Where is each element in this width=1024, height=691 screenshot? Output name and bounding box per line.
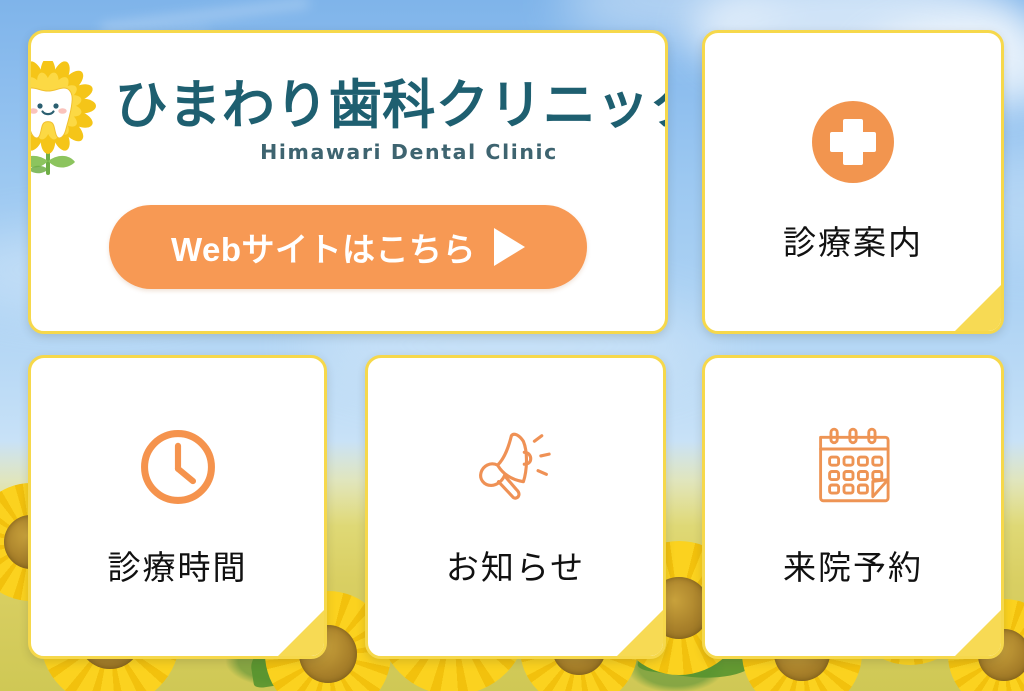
tile-news-label: お知らせ (446, 541, 585, 589)
megaphone-icon (468, 419, 564, 515)
calendar-icon (805, 419, 901, 515)
tile-book[interactable]: 来院予約 (702, 355, 1004, 659)
corner-fold (955, 285, 1001, 331)
clock-icon (130, 419, 226, 515)
clinic-name-jp: ひまわり歯科クリニック (115, 78, 668, 133)
cloud-streak (100, 0, 309, 32)
website-cta-button[interactable]: Webサイトはこちら (109, 205, 587, 289)
clinic-name-en: Himawari Dental Clinic (260, 142, 558, 163)
website-cta-label: Webサイトはこちら (171, 223, 476, 271)
poster-canvas: ひまわり歯科クリニック Himawari Dental Clinic Webサイ… (0, 0, 1024, 691)
tile-hours[interactable]: 診療時間 (28, 355, 327, 659)
tile-hours-label: 診療時間 (108, 541, 248, 589)
medical-cross-circle-icon (805, 94, 901, 190)
tile-news[interactable]: お知らせ (365, 355, 666, 659)
tile-guide-label: 診療案内 (783, 216, 923, 264)
brand-lockup: ひまわり歯科クリニック Himawari Dental Clinic (28, 61, 668, 179)
corner-fold (955, 610, 1001, 656)
corner-fold (278, 610, 324, 656)
corner-fold (617, 610, 663, 656)
hero-card: ひまわり歯科クリニック Himawari Dental Clinic Webサイ… (28, 30, 668, 334)
play-triangle-icon (494, 228, 525, 266)
tile-book-label: 来院予約 (783, 541, 923, 589)
tile-guide[interactable]: 診療案内 (702, 30, 1004, 334)
sunflower-tooth-logo-icon (28, 61, 97, 179)
